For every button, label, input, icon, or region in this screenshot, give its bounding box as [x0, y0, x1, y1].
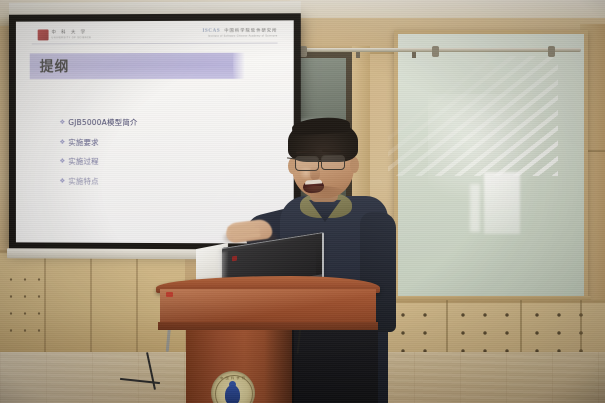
whiteboard-window-reflection-2 [470, 184, 480, 232]
rail-bracket [432, 46, 439, 57]
lecture-room-photo: 中 科 大 学 UNIVERSITY OF SCIENCE ISCAS 中国科学… [0, 0, 605, 403]
panel-seam [90, 253, 92, 358]
podium-highlight [160, 289, 376, 325]
rail-bracket [300, 46, 307, 57]
wall-panel-left [0, 250, 185, 358]
panel-seam [520, 300, 522, 358]
panel-seam [136, 253, 138, 358]
speaker-nose [310, 166, 320, 180]
acoustic-perforation-panel [526, 306, 584, 354]
podium-column-shadow [264, 330, 294, 403]
speaker-chin-shadow [296, 186, 346, 200]
podium-emblem-core [225, 385, 240, 403]
glasses-lens-right [321, 155, 345, 170]
acoustic-perforation-panel [392, 306, 444, 354]
podium-bevel [158, 322, 378, 330]
rail-hook [356, 52, 360, 58]
acoustic-perforation-panel [4, 271, 42, 343]
panel-seam [580, 300, 582, 358]
whiteboard [394, 30, 588, 306]
glasses-bridge [317, 160, 322, 161]
speaker-lower-body [292, 320, 378, 403]
whiteboard-blind-reflection [388, 56, 558, 176]
speaker-ear-right [350, 157, 359, 173]
rail-hook [412, 52, 416, 58]
rail-bracket [548, 46, 555, 57]
podium-badge-icon [166, 292, 173, 297]
panel-seam [44, 253, 46, 358]
panel-seam [446, 300, 448, 358]
whiteboard-window-reflection [484, 172, 520, 234]
acoustic-perforation-panel [452, 306, 518, 354]
podium-emblem-label: 中 国 科 学 院 [213, 376, 253, 380]
